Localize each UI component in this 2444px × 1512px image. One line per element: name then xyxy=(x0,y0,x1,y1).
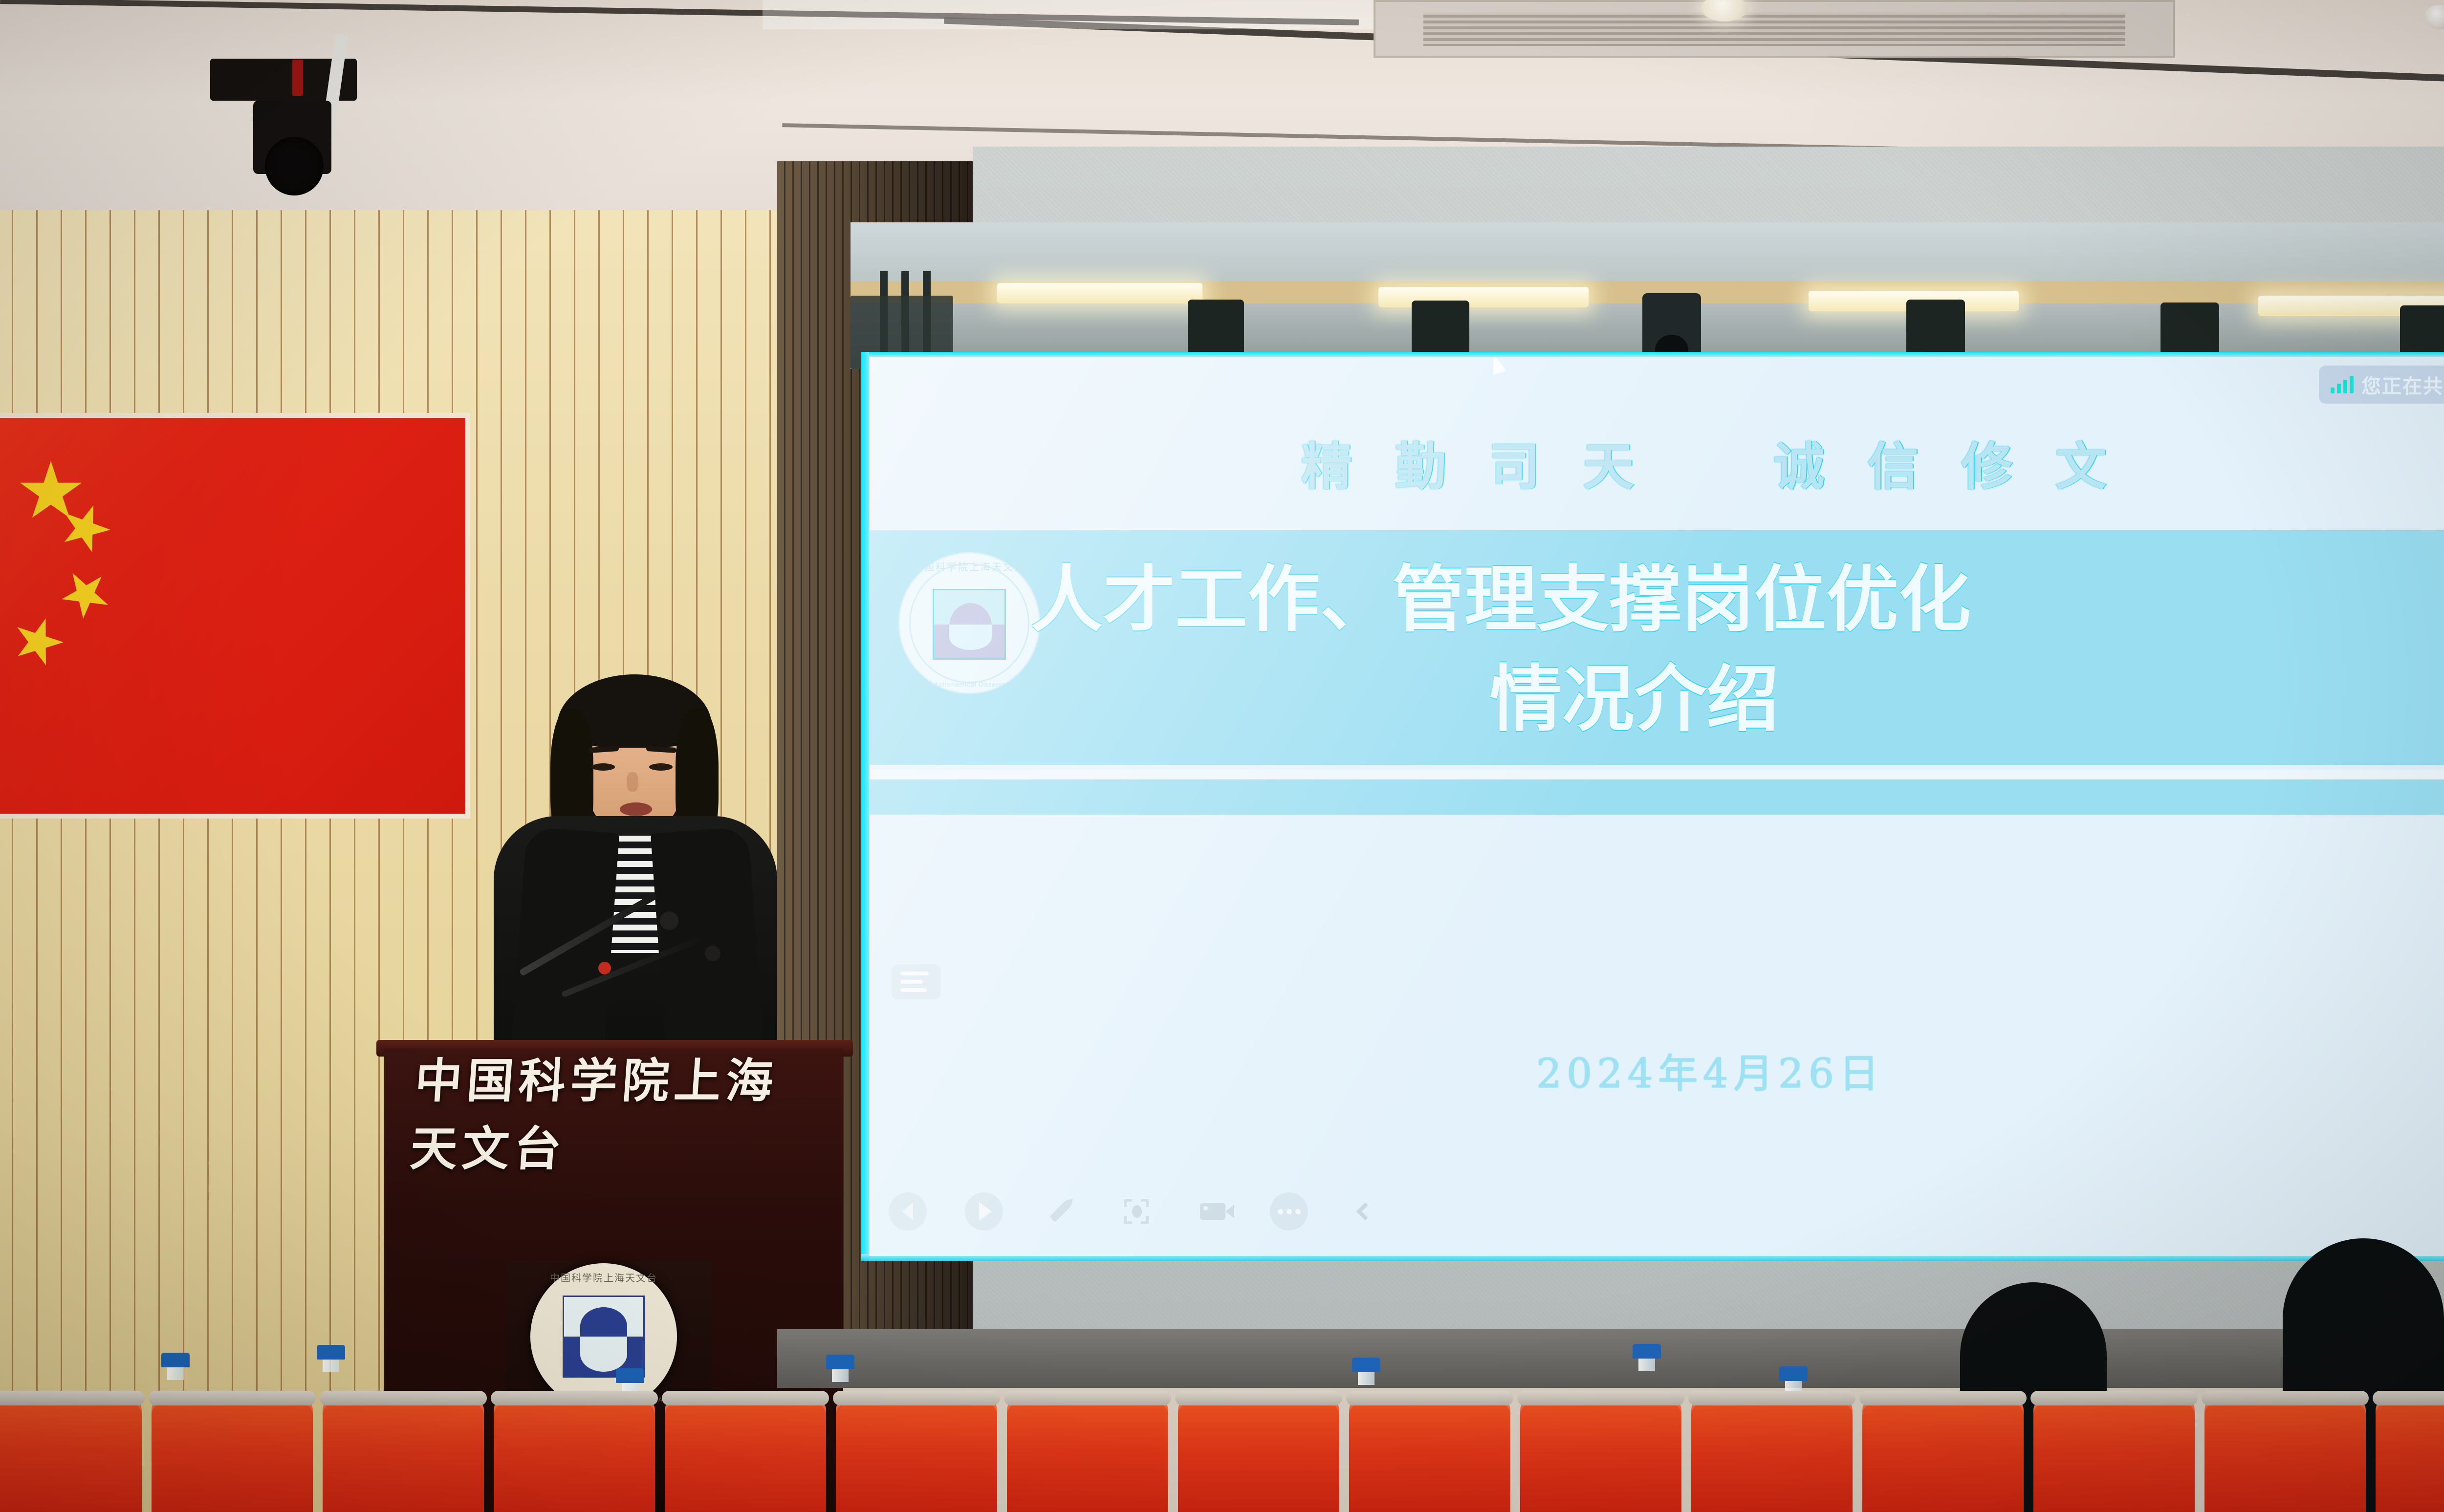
pen-icon xyxy=(1049,1201,1071,1222)
flag-star xyxy=(19,461,83,523)
screen-edge-top xyxy=(861,352,2444,357)
record-video-button[interactable] xyxy=(1194,1192,1232,1231)
screen-share-label: 您正在共享屏幕 xyxy=(2361,370,2444,399)
speaker-mouth xyxy=(620,802,652,816)
screen-edge-left xyxy=(861,352,869,1261)
spotlight-button[interactable] xyxy=(1117,1192,1156,1231)
mouse-cursor xyxy=(1487,357,1506,375)
play-slideshow-button[interactable] xyxy=(965,1192,1003,1231)
lighting-truss-band xyxy=(851,222,2444,369)
auditorium-seat xyxy=(1349,1398,1510,1512)
auditorium-seat xyxy=(494,1398,655,1512)
flag-of-china xyxy=(0,418,465,814)
focus-icon xyxy=(1124,1199,1149,1224)
slide-toolbar xyxy=(889,1192,1384,1231)
flag-star xyxy=(51,560,120,628)
play-icon xyxy=(979,1202,992,1221)
video-camera-icon xyxy=(1200,1203,1225,1220)
podium-nameplate-text: 中国科学院上海天文台 xyxy=(410,1068,817,1153)
slide-banner-divider xyxy=(869,770,2444,779)
auditorium-seat xyxy=(152,1398,313,1512)
observatory-logo: 中国科学院上海天文台 Shanghai Astronomical Observa… xyxy=(898,552,1040,694)
observatory-logo-en: Shanghai Astronomical Observatory, CAS xyxy=(898,681,1040,688)
slide-title-line2: 情况介绍 xyxy=(1030,649,2444,749)
auditorium-seat xyxy=(1691,1398,1853,1512)
auditorium-seat xyxy=(2376,1398,2444,1512)
slide-banner-secondary xyxy=(869,779,2444,815)
previous-slide-button[interactable] xyxy=(889,1192,927,1231)
annotate-pen-button[interactable] xyxy=(1041,1192,1079,1231)
auditorium-seat xyxy=(836,1398,997,1512)
observatory-logo-cn: 中国科学院上海天文台 xyxy=(898,559,1040,573)
collapse-toolbar-button[interactable] xyxy=(1346,1192,1384,1231)
speaker-eye xyxy=(591,763,615,771)
podium-emblem-cn: 中国科学院上海天文台 xyxy=(530,1270,677,1284)
slide-date: 2024年4月26日 xyxy=(869,1041,2444,1099)
screen-share-badge: 您正在共享屏幕 xyxy=(2319,366,2444,404)
slide-slogan: 精 勤 司 天 诚 信 修 文 xyxy=(869,425,2444,499)
microphone-head xyxy=(705,946,720,961)
more-options-button[interactable] xyxy=(1270,1192,1308,1231)
auditorium-seat xyxy=(1007,1398,1168,1512)
auditorium-seat xyxy=(1178,1398,1339,1512)
microphone-head xyxy=(660,911,678,930)
auditorium-seat xyxy=(1862,1398,2024,1512)
signal-bars-icon xyxy=(2331,376,2354,393)
ceiling-panel xyxy=(763,0,1398,29)
truss-lamp xyxy=(1378,287,1589,307)
ceiling-spotlight-rig xyxy=(210,54,367,215)
stage-floor xyxy=(777,1329,2444,1388)
slide-title-line1: 人才工作、管理支撑岗位优化 xyxy=(1030,550,2444,649)
slide-outline-button[interactable] xyxy=(892,964,940,999)
auditorium-seat xyxy=(665,1398,826,1512)
slide-title: 人才工作、管理支撑岗位优化 情况介绍 xyxy=(1030,550,2444,749)
auditorium-seat xyxy=(1520,1398,1681,1512)
speaker-nose xyxy=(627,772,638,792)
presentation-slide: 您正在共享屏幕 精 勤 司 天 诚 信 修 文 中国科学院上海天文台 Shang… xyxy=(869,357,2444,1256)
podium-observatory-emblem: 中国科学院上海天文台 Shanghai Astronomical Observa… xyxy=(530,1263,677,1410)
auditorium-seat xyxy=(2033,1398,2195,1512)
chevron-left-icon xyxy=(1356,1203,1375,1221)
auditorium-seat xyxy=(323,1398,484,1512)
chevron-left-icon xyxy=(902,1203,913,1220)
auditorium-seat xyxy=(2204,1398,2366,1512)
truss-lamp xyxy=(997,283,1202,303)
auditorium-scene: 您正在共享屏幕 精 勤 司 天 诚 信 修 文 中国科学院上海天文台 Shang… xyxy=(0,0,2444,1512)
podium-nameplate: 中国科学院上海天文台 xyxy=(413,1068,814,1153)
ceiling-vent xyxy=(1374,0,2175,58)
speaker-eye xyxy=(649,763,673,771)
ellipsis-icon xyxy=(1278,1209,1301,1214)
audience-seat-row xyxy=(0,1398,2444,1512)
flag-star xyxy=(6,610,70,672)
speaker-presenter xyxy=(464,674,807,1075)
auditorium-seat xyxy=(0,1398,142,1512)
